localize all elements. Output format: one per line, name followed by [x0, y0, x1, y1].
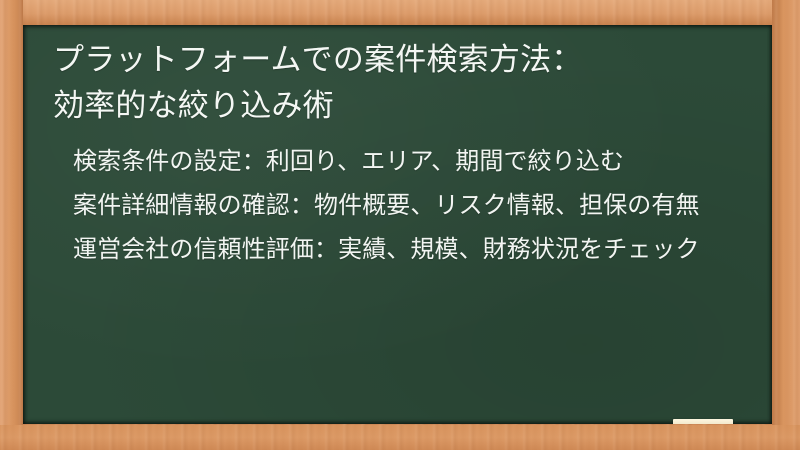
chalkboard-content: プラットフォームでの案件検索方法： 効率的な絞り込み術 検索条件の設定：利回り、… [23, 25, 772, 424]
chalk-stick [673, 419, 733, 424]
frame-left-rail [0, 0, 23, 450]
slide-bullet-list: 検索条件の設定：利回り、エリア、期間で絞り込む 案件詳細情報の確認：物件概要、リ… [53, 143, 742, 267]
list-item: 案件詳細情報の確認：物件概要、リスク情報、担保の有無 [73, 187, 742, 223]
frame-bottom-rail [0, 425, 800, 450]
frame-top-rail [0, 0, 800, 25]
list-item: 運営会社の信頼性評価：実績、規模、財務状況をチェック [73, 231, 742, 267]
chalkboard-surface: プラットフォームでの案件検索方法： 効率的な絞り込み術 検索条件の設定：利回り、… [23, 25, 772, 424]
frame-right-rail [772, 0, 800, 450]
chalkboard-frame: プラットフォームでの案件検索方法： 効率的な絞り込み術 検索条件の設定：利回り、… [0, 0, 800, 450]
list-item: 検索条件の設定：利回り、エリア、期間で絞り込む [73, 143, 742, 179]
slide-title: プラットフォームでの案件検索方法： 効率的な絞り込み術 [53, 37, 742, 129]
